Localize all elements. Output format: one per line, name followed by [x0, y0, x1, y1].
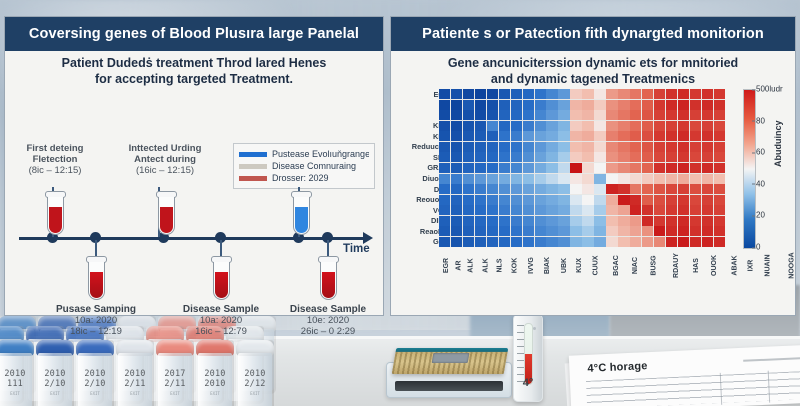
heatmap-column-label: ALK — [464, 248, 478, 296]
heatmap-cell — [558, 131, 569, 141]
heatmap-cell — [535, 152, 546, 162]
right-subtitle-line2: and dynamic tagened Treatmenics — [391, 71, 795, 87]
heatmap-cell — [475, 216, 486, 226]
heatmap-column-label-text: OUOK — [711, 255, 718, 276]
heatmap-cell — [439, 184, 450, 194]
heatmap-cell — [523, 226, 534, 236]
rack-tube-label: 20102/12EXIT — [239, 370, 271, 399]
heatmap-cell — [582, 174, 593, 184]
heatmap-cell — [666, 195, 677, 205]
heatmap-cell — [642, 184, 653, 194]
rack-tube-label: 2010111EXIT — [0, 370, 31, 399]
heatmap-cell — [642, 174, 653, 184]
heatmap-cell — [594, 216, 605, 226]
heatmap-cell — [690, 152, 701, 162]
heatmap-cell — [594, 205, 605, 215]
heatmap-cell — [451, 152, 462, 162]
heatmap-cell — [690, 100, 701, 110]
heatmap-cell — [439, 89, 450, 99]
annotation-line1: First deteing — [0, 143, 115, 154]
heatmap-cell — [463, 237, 474, 247]
left-subtitle-line2: for accepting targeted Treatment. — [5, 71, 383, 87]
heatmap-cell — [546, 142, 557, 152]
heatmap-cell — [582, 195, 593, 205]
heatmap-cell — [618, 131, 629, 141]
heatmap-cell — [499, 142, 510, 152]
heatmap-column-label: BIAK — [539, 248, 556, 296]
colorbar-tick-label: 60 — [756, 148, 765, 157]
heatmap-cell — [439, 205, 450, 215]
heatmap-cell — [606, 195, 617, 205]
heatmap-cell — [451, 100, 462, 110]
heatmap-cell — [535, 216, 546, 226]
heatmap-cell — [570, 163, 581, 173]
heatmap-column-label: NIAC — [627, 248, 644, 296]
heatmap-cell — [570, 121, 581, 131]
heatmap-cell — [618, 195, 629, 205]
heatmap-cell — [654, 163, 665, 173]
heatmap-cell — [451, 121, 462, 131]
heatmap-cell — [654, 121, 665, 131]
heatmap-cell — [618, 100, 629, 110]
heatmap-cell — [582, 205, 593, 215]
heatmap-cell — [642, 89, 653, 99]
heatmap-cell — [523, 163, 534, 173]
heatmap-cell — [678, 110, 689, 120]
heatmap-cell — [535, 237, 546, 247]
heatmap-cell — [499, 163, 510, 173]
heatmap-cell — [535, 205, 546, 215]
heatmap-cell — [463, 110, 474, 120]
heatmap-cell — [618, 121, 629, 131]
rack-tube: 20102010EXIT — [196, 340, 234, 406]
heatmap-cell — [630, 110, 641, 120]
heatmap-cell — [606, 174, 617, 184]
heatmap-cell — [618, 142, 629, 152]
tube-body — [213, 262, 230, 300]
heatmap-cell — [570, 142, 581, 152]
annotation-line2: Antect during — [105, 154, 225, 165]
heatmap-cell — [666, 110, 677, 120]
heatmap-cell — [511, 110, 522, 120]
heatmap-cell — [463, 152, 474, 162]
heatmap-cell — [582, 100, 593, 110]
heatmap-column-label: NLS — [493, 248, 507, 296]
heatmap-cell — [594, 195, 605, 205]
heatmap-cell — [630, 237, 641, 247]
heatmap-cell — [535, 195, 546, 205]
heatmap-cell — [654, 195, 665, 205]
heatmap-cell — [714, 89, 725, 99]
heatmap-cell — [535, 131, 546, 141]
heatmap-cell — [630, 163, 641, 173]
right-panel-title: Patiente s or Patection fith dynargted m… — [422, 26, 764, 42]
heatmap-cell — [439, 195, 450, 205]
heatmap-cell — [463, 205, 474, 215]
heatmap-cell — [535, 184, 546, 194]
rack-tube-label: 20102010EXIT — [199, 370, 231, 399]
heatmap-cell — [463, 89, 474, 99]
heatmap-cell — [546, 174, 557, 184]
timeline-axis — [19, 237, 365, 240]
timeline-top-annotation: Inttected UrdingAntect during(16ic – 12:… — [105, 143, 225, 176]
heatmap-cell — [714, 131, 725, 141]
heatmap-cell — [570, 226, 581, 236]
heatmap-cell — [475, 237, 486, 247]
heatmap-cell — [690, 121, 701, 131]
heatmap-cell — [499, 184, 510, 194]
left-figure-panel: Coversing genes of Blood Plusıra large P… — [4, 16, 384, 316]
heatmap-cell — [475, 131, 486, 141]
heatmap-cell — [487, 121, 498, 131]
heatmap-cell — [451, 205, 462, 215]
heatmap-cell — [546, 163, 557, 173]
heatmap-cell — [511, 121, 522, 131]
heatmap-cell — [451, 216, 462, 226]
heatmap-cell — [654, 226, 665, 236]
heatmap-cell — [523, 110, 534, 120]
heatmap-cell — [523, 237, 534, 247]
heatmap-cell — [606, 184, 617, 194]
rack-tube: 20102/11EXIT — [116, 340, 154, 406]
heatmap-cell — [606, 100, 617, 110]
heatmap-cell — [451, 89, 462, 99]
heatmap-cell — [487, 184, 498, 194]
heatmap-column-label-text: ALK — [468, 258, 475, 272]
heatmap-cell — [487, 237, 498, 247]
heatmap-cell — [439, 163, 450, 173]
heatmap-cell — [463, 174, 474, 184]
heatmap-column-label: HAS — [689, 248, 704, 296]
heatmap-cell — [606, 205, 617, 215]
heatmap-cell — [630, 184, 641, 194]
heatmap-column-label-text: BGAC — [613, 255, 620, 276]
legend-item: Disease Comnuraing — [239, 160, 369, 172]
heatmap-cell — [618, 174, 629, 184]
heatmap-cell — [630, 142, 641, 152]
heatmap-cell — [678, 142, 689, 152]
heatmap-cell — [475, 226, 486, 236]
legend-item: Drosser: 2029 — [239, 172, 369, 184]
heatmap-cell — [546, 226, 557, 236]
heatmap-cell — [582, 131, 593, 141]
heatmap-cell — [570, 152, 581, 162]
legend-item: Pustease Evolıuňgrange — [239, 148, 369, 160]
heatmap-column-label-text: HAS — [693, 258, 700, 273]
heatmap-cell — [451, 226, 462, 236]
heatmap-cell — [642, 100, 653, 110]
heatmap-cell — [714, 152, 725, 162]
heatmap-cell — [654, 184, 665, 194]
rack-tube: 20102/10EXIT — [76, 340, 114, 406]
heatmap-cell — [523, 184, 534, 194]
heatmap-cell — [654, 237, 665, 247]
heatmap-cell — [570, 184, 581, 194]
heatmap-cell — [690, 184, 701, 194]
heatmap-cell — [475, 121, 486, 131]
heatmap-cell — [594, 110, 605, 120]
heatmap-cell — [678, 152, 689, 162]
heatmap-cell — [511, 205, 522, 215]
heatmap-cell — [523, 205, 534, 215]
annotation-title: Pusase Samping — [31, 304, 161, 315]
heatmap-cell — [606, 121, 617, 131]
heatmap-cell — [594, 142, 605, 152]
heatmap-cell — [570, 174, 581, 184]
heatmap-colorbar — [743, 89, 756, 249]
heatmap-column-label: IVVG — [523, 248, 540, 296]
heatmap-column-label-text: EGR — [443, 258, 450, 273]
heatmap-cell — [594, 163, 605, 173]
colorbar-tick-label: 80 — [756, 116, 765, 125]
chip-core — [432, 353, 470, 363]
heatmap-cell — [499, 131, 510, 141]
heatmap-cell — [451, 131, 462, 141]
heatmap-column-label: ABAK — [725, 248, 745, 296]
heatmap-cell — [558, 195, 569, 205]
heatmap-cell — [690, 110, 701, 120]
heatmap-cell — [594, 174, 605, 184]
heatmap-cell — [511, 174, 522, 184]
heatmap-column-label: CUUX — [586, 248, 606, 296]
heatmap-cell — [690, 174, 701, 184]
heatmap-cell — [475, 100, 486, 110]
colorbar-tick-label: 40 — [756, 179, 765, 188]
heatmap-cell — [439, 142, 450, 152]
heatmap-cell — [439, 121, 450, 131]
heatmap-cell — [714, 195, 725, 205]
heatmap-cell — [702, 89, 713, 99]
heatmap-cell — [499, 205, 510, 215]
rack-tube: 2010111EXIT — [0, 340, 34, 406]
heatmap-cell — [535, 226, 546, 236]
heatmap-cell — [511, 152, 522, 162]
heatmap-cell — [594, 226, 605, 236]
colorbar-tick-label: 0 — [756, 243, 760, 252]
heatmap-cell — [642, 131, 653, 141]
heatmap-cell — [546, 237, 557, 247]
heatmap-cell — [690, 131, 701, 141]
heatmap-cell — [451, 174, 462, 184]
heatmap-cell — [618, 152, 629, 162]
heatmap-cell — [475, 174, 486, 184]
heatmap-cell — [558, 110, 569, 120]
heatmap-column-label-text: NOOGA — [789, 252, 796, 278]
tube-body — [88, 262, 105, 300]
heatmap-column-label: NOOGA — [779, 248, 800, 296]
heatmap-cell — [487, 142, 498, 152]
heatmap-column-label-text: IVVG — [528, 257, 535, 274]
tube-fill — [322, 272, 335, 298]
heatmap-cell — [582, 237, 593, 247]
heatmap-cell — [702, 184, 713, 194]
heatmap-cell — [690, 216, 701, 226]
screenshot-stage: 2010111EXIT20102/10EXIT20102/10EXIT20102… — [0, 0, 800, 406]
heatmap-cell — [487, 174, 498, 184]
heatmap-cell — [654, 110, 665, 120]
heatmap-cell — [606, 142, 617, 152]
paper-header-rule — [743, 357, 800, 362]
heatmap-cell — [702, 195, 713, 205]
heatmap-cell — [702, 237, 713, 247]
rack-tube-label: 20102/10EXIT — [79, 370, 111, 399]
heatmap-cell — [546, 110, 557, 120]
heatmap-column-label-text: NUAIN — [764, 254, 771, 276]
heatmap-cell — [487, 89, 498, 99]
heatmap-cell — [678, 121, 689, 131]
rack-tube-label: 20172/11EXIT — [159, 370, 191, 399]
heatmap-cell — [606, 152, 617, 162]
heatmap-cell — [666, 174, 677, 184]
heatmap-column-label: KUX — [572, 248, 587, 296]
heatmap-cell — [475, 195, 486, 205]
heatmap-cell — [570, 195, 581, 205]
heatmap-cell — [475, 184, 486, 194]
heatmap-column-label-text: ALK — [482, 258, 489, 272]
heatmap-cell — [702, 205, 713, 215]
heatmap-cell — [546, 195, 557, 205]
heatmap-cell — [582, 216, 593, 226]
heatmap-cell — [558, 100, 569, 110]
heatmap-cell — [499, 216, 510, 226]
colorbar-tick-label: 500ludr — [756, 85, 783, 94]
heatmap-cell — [511, 100, 522, 110]
heatmap-cell — [714, 142, 725, 152]
heatmap-column-label: IXR — [745, 248, 757, 296]
heatmap-cell — [582, 163, 593, 173]
heatmap-cell — [630, 195, 641, 205]
heatmap-cell — [642, 110, 653, 120]
heatmap-cell — [475, 142, 486, 152]
heatmap-cell — [666, 89, 677, 99]
heatmap-cell — [642, 163, 653, 173]
heatmap-cell — [630, 174, 641, 184]
heatmap-cell — [654, 89, 665, 99]
heatmap-column-label-text: NLS — [497, 259, 504, 273]
heatmap-column-labels: EGRARALKALKNLSKOKIVVGBIAKUBKKUXCUUXBGACN… — [439, 248, 725, 296]
heatmap-cell — [678, 89, 689, 99]
heatmap-cell — [702, 100, 713, 110]
microarray-chip — [392, 348, 509, 374]
heatmap-cell — [678, 205, 689, 215]
heatmap-cell — [702, 131, 713, 141]
left-panel-title: Coversing genes of Blood Plusıra large P… — [29, 26, 359, 42]
heatmap-cell — [439, 100, 450, 110]
heatmap-cell — [546, 205, 557, 215]
heatmap-cell — [594, 121, 605, 131]
heatmap-cell — [511, 237, 522, 247]
heatmap-cell — [499, 226, 510, 236]
heatmap-cell — [702, 152, 713, 162]
right-panel-body: Gene ancuniciterssion dynamic ets for mn… — [391, 51, 795, 316]
timeline-bottom-annotation: Disease Sample10e: 202026ic – 0 2:29 — [263, 304, 393, 337]
heatmap-cell — [546, 152, 557, 162]
heatmap-cell — [463, 163, 474, 173]
colorbar-title: Abuduincy — [773, 121, 783, 168]
heatmap-column-label-text: RDAUY — [673, 253, 680, 278]
heatmap-cell — [487, 152, 498, 162]
heatmap-cell — [499, 100, 510, 110]
heatmap-cell — [678, 100, 689, 110]
heatmap-cell — [678, 131, 689, 141]
legend-label: Drosser: 2029 — [272, 173, 329, 183]
heatmap-cell — [594, 131, 605, 141]
heatmap-cell — [523, 121, 534, 131]
heatmap-cell — [570, 100, 581, 110]
heatmap-cell — [558, 121, 569, 131]
heatmap-cell — [654, 174, 665, 184]
heatmap-cell — [439, 152, 450, 162]
heatmap-cell — [475, 163, 486, 173]
heatmap-column-label: OUOK — [704, 248, 725, 296]
heatmap-cell — [654, 142, 665, 152]
heatmap-cell — [523, 89, 534, 99]
heatmap-cell — [642, 121, 653, 131]
annotation-line1: Inttected Urding — [105, 143, 225, 154]
heatmap-cell — [618, 216, 629, 226]
tube-fill — [49, 207, 62, 233]
heatmap-cell — [582, 89, 593, 99]
heatmap-cell — [678, 237, 689, 247]
heatmap-cell — [523, 195, 534, 205]
heatmap-cell — [535, 100, 546, 110]
heatmap-column-label-text: ABAK — [732, 255, 739, 275]
heatmap-column-label-text: KOK — [511, 258, 518, 274]
heatmap-cell — [558, 89, 569, 99]
heatmap-cell — [642, 205, 653, 215]
annotation-line3: (8ic – 12:15) — [0, 165, 115, 176]
heatmap-cell — [451, 237, 462, 247]
tube-body — [47, 197, 64, 235]
heatmap-cell — [570, 205, 581, 215]
heatmap-cell — [714, 100, 725, 110]
heatmap-cell — [463, 100, 474, 110]
right-figure-panel: Patiente s or Patection fith dynargted m… — [390, 16, 796, 316]
heatmap-cell — [463, 184, 474, 194]
annotation-time: 18ic – 12:19 — [31, 326, 161, 337]
heatmap-cell — [606, 163, 617, 173]
heatmap-cell — [475, 110, 486, 120]
heatmap-cell — [714, 205, 725, 215]
heatmap-cell — [463, 195, 474, 205]
heatmap-cell — [535, 163, 546, 173]
heatmap-cell — [594, 152, 605, 162]
heatmap-cell — [487, 226, 498, 236]
heatmap-cell — [463, 121, 474, 131]
heatmap-column-label: ALK — [479, 248, 493, 296]
heatmap-cell — [558, 205, 569, 215]
left-panel-body: Patient Dudedṡ treatment Throd lared Hen… — [5, 51, 383, 316]
heatmap-column-label: EGR — [439, 248, 454, 296]
heatmap-cell — [678, 163, 689, 173]
heatmap-cell — [702, 142, 713, 152]
heatmap-cell — [558, 152, 569, 162]
heatmap-cell — [654, 131, 665, 141]
heatmap-cell — [702, 226, 713, 236]
heatmap-cell — [666, 152, 677, 162]
heatmap-cell — [511, 142, 522, 152]
thermometer: 4° — [513, 314, 543, 402]
heatmap-cell — [582, 121, 593, 131]
heatmap-cell — [475, 205, 486, 215]
heatmap-cell — [523, 216, 534, 226]
heatmap-cell — [439, 226, 450, 236]
heatmap-cell — [451, 163, 462, 173]
heatmap-cell — [546, 121, 557, 131]
heatmap-cell — [678, 174, 689, 184]
heatmap-column-label: UBK — [557, 248, 572, 296]
heatmap-cell — [451, 184, 462, 194]
